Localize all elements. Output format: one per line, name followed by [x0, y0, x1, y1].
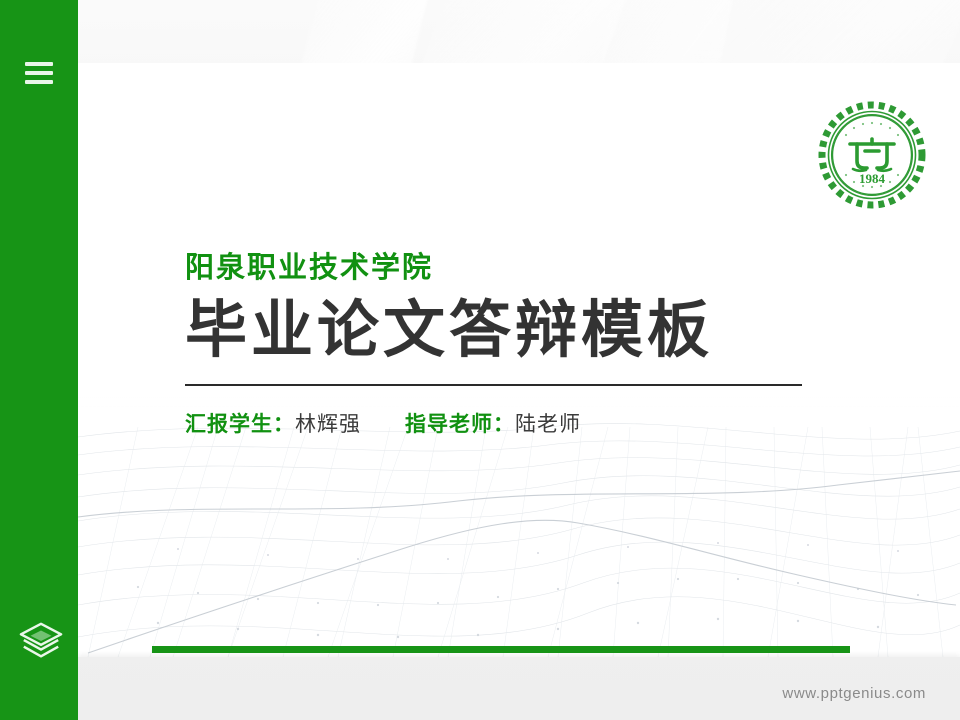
presentation-slide: 1984 阳泉职业技术学院 毕业论文答辩模板 汇报学生： — [0, 0, 960, 720]
advisor-name: 陆老师 — [515, 413, 581, 436]
presenter-label: 汇报学生： — [185, 413, 295, 436]
title-block: 阳泉职业技术学院 毕业论文答辩模板 汇报学生：林辉强指导老师：陆老师 — [185, 253, 885, 437]
seal-year: 1984 — [859, 171, 886, 186]
green-progress-bar — [152, 646, 850, 653]
left-green-rail — [0, 0, 78, 720]
hamburger-menu-icon[interactable] — [25, 62, 53, 86]
university-seal-logo: 1984 — [816, 99, 928, 211]
byline: 汇报学生：林辉强指导老师：陆老师 — [185, 412, 885, 437]
presenter-name: 林辉强 — [295, 413, 361, 436]
slide-content-card: 1984 阳泉职业技术学院 毕业论文答辩模板 汇报学生： — [78, 63, 960, 657]
hamburger-line-2 — [25, 71, 53, 75]
school-name: 阳泉职业技术学院 — [185, 253, 885, 285]
page-title: 毕业论文答辩模板 — [185, 295, 885, 366]
advisor-label: 指导老师： — [405, 413, 515, 436]
layers-stack-icon[interactable] — [18, 620, 64, 662]
footer-url[interactable]: www.pptgenius.com — [782, 685, 926, 702]
hamburger-line-1 — [25, 62, 53, 66]
hamburger-line-3 — [25, 80, 53, 84]
title-divider — [185, 384, 802, 386]
